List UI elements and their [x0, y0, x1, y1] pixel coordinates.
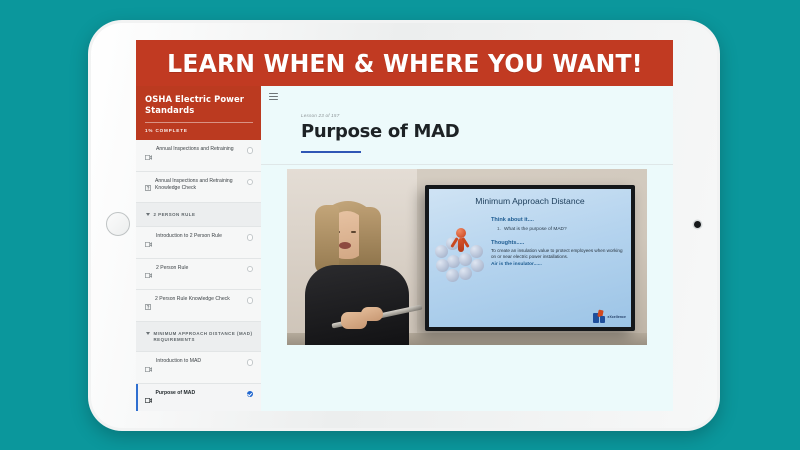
- quiz-icon: [145, 178, 151, 196]
- tablet-home-button[interactable]: [106, 212, 130, 236]
- hamburger-bar: [269, 93, 278, 94]
- presenter-figure: [301, 195, 419, 345]
- list-item[interactable]: Annual Inspections and Retraining: [136, 140, 261, 172]
- course-title: OSHA Electric Power Standards: [145, 94, 253, 116]
- course-header-divider: [145, 122, 253, 123]
- video-icon: [145, 359, 152, 377]
- presenter-eye: [351, 231, 356, 233]
- title-underline: [301, 151, 361, 153]
- status-badge-complete: [247, 391, 254, 398]
- lesson-counter: Lesson 23 of 157: [301, 113, 673, 118]
- list-item[interactable]: Introduction to 2 Person Rule: [136, 227, 261, 259]
- lesson-main-panel: Lesson 23 of 157 Purpose of MAD: [261, 86, 673, 411]
- video-icon: [145, 390, 152, 408]
- video-icon: [145, 234, 152, 252]
- marketing-banner-text: LEARN WHEN & WHERE YOU WANT!: [167, 49, 642, 78]
- slide-question-text: What is the purpose of MAD?: [504, 227, 567, 232]
- list-item-label: Introduction to MAD: [156, 358, 243, 365]
- status-badge: [247, 266, 254, 273]
- presenter-torso: [305, 265, 409, 345]
- hamburger-bar: [269, 96, 278, 97]
- list-item[interactable]: 2 Person Rule: [136, 259, 261, 291]
- sidebar-section-2-person-rule[interactable]: 2 PERSON RULE: [136, 203, 261, 227]
- presenter-hair-right: [359, 207, 381, 271]
- slide-logo: eXcellence: [593, 310, 626, 323]
- slide-question-number: 1.: [497, 227, 501, 232]
- slide-prompt-heading: Think about it....: [491, 217, 627, 223]
- chevron-down-icon: [146, 332, 150, 335]
- tablet-screen: LEARN WHEN & WHERE YOU WANT! OSHA Electr…: [136, 40, 673, 411]
- list-item-label: Annual Inspections and Retraining Knowle…: [155, 178, 243, 192]
- status-badge: [247, 179, 254, 186]
- figure-ball: [435, 245, 448, 258]
- list-item[interactable]: Annual Inspections and Retraining Knowle…: [136, 172, 261, 204]
- hamburger-bar: [269, 99, 278, 100]
- slide: Minimum Approach Distance: [429, 189, 631, 327]
- company-logo-text: eXcellence: [607, 315, 626, 319]
- slide-illustration: [435, 223, 489, 285]
- presentation-screen: Minimum Approach Distance: [425, 185, 635, 331]
- main-bottom-padding: [261, 403, 673, 411]
- slide-emphasis-text: Air is the insulator......: [491, 262, 627, 267]
- slide-question: 1.What is the purpose of MAD?: [497, 226, 627, 233]
- course-header: OSHA Electric Power Standards 1% COMPLET…: [136, 86, 261, 140]
- list-item[interactable]: Introduction to MAD: [136, 352, 261, 384]
- list-item-label: Annual Inspections and Retraining: [156, 146, 243, 153]
- lesson-header: Lesson 23 of 157 Purpose of MAD: [261, 86, 673, 165]
- status-badge: [247, 147, 254, 154]
- marketing-banner: LEARN WHEN & WHERE YOU WANT!: [136, 40, 673, 86]
- figure-ball: [459, 267, 472, 280]
- video-player-region[interactable]: Minimum Approach Distance: [261, 165, 673, 403]
- lesson-list[interactable]: Annual Inspections and Retraining Annual…: [136, 140, 261, 411]
- slide-answer-text: To create an insulation value to protect…: [491, 248, 627, 260]
- slide-answer-heading: Thoughts.....: [491, 240, 627, 246]
- course-sidebar: OSHA Electric Power Standards 1% COMPLET…: [136, 86, 261, 411]
- page-title: Purpose of MAD: [301, 121, 673, 142]
- course-progress-label: 1% COMPLETE: [145, 128, 253, 133]
- status-badge: [247, 297, 254, 304]
- video-icon: [145, 147, 152, 165]
- hamburger-icon[interactable]: [269, 93, 278, 100]
- quiz-icon: [145, 297, 151, 315]
- sidebar-section-mad-requirements[interactable]: MINIMUM APPROACH DISTANCE (MAD) REQUIREM…: [136, 322, 261, 352]
- company-logo-icon: [593, 310, 606, 323]
- chevron-down-icon: [146, 213, 150, 216]
- sidebar-item-purpose-of-mad[interactable]: Purpose of MAD: [136, 384, 261, 411]
- figure-ball: [447, 255, 460, 268]
- status-badge: [247, 234, 254, 241]
- list-item-label: Introduction to 2 Person Rule: [156, 233, 243, 240]
- sidebar-item-label: Purpose of MAD: [156, 390, 243, 397]
- tablet-camera-icon: [694, 221, 701, 228]
- figure-ball: [470, 245, 483, 258]
- figure-ball: [471, 259, 484, 272]
- video-player[interactable]: Minimum Approach Distance: [287, 169, 647, 345]
- logo-shape: [600, 316, 605, 323]
- list-item-label: 2 Person Rule: [156, 265, 243, 272]
- sidebar-section-label: MINIMUM APPROACH DISTANCE (MAD) REQUIREM…: [154, 331, 254, 343]
- list-item-label: 2 Person Rule Knowledge Check: [155, 296, 243, 303]
- status-badge: [247, 359, 254, 366]
- tablet-device: LEARN WHEN & WHERE YOU WANT! OSHA Electr…: [88, 20, 720, 431]
- figure-ball: [446, 269, 459, 282]
- video-icon: [145, 265, 152, 283]
- slide-title: Minimum Approach Distance: [429, 196, 631, 206]
- course-app: OSHA Electric Power Standards 1% COMPLET…: [136, 86, 673, 411]
- list-item[interactable]: 2 Person Rule Knowledge Check: [136, 290, 261, 322]
- slide-body: Think about it.... 1.What is the purpose…: [491, 217, 627, 267]
- sidebar-section-label: 2 PERSON RULE: [154, 212, 254, 218]
- presenter-hand: [361, 307, 383, 321]
